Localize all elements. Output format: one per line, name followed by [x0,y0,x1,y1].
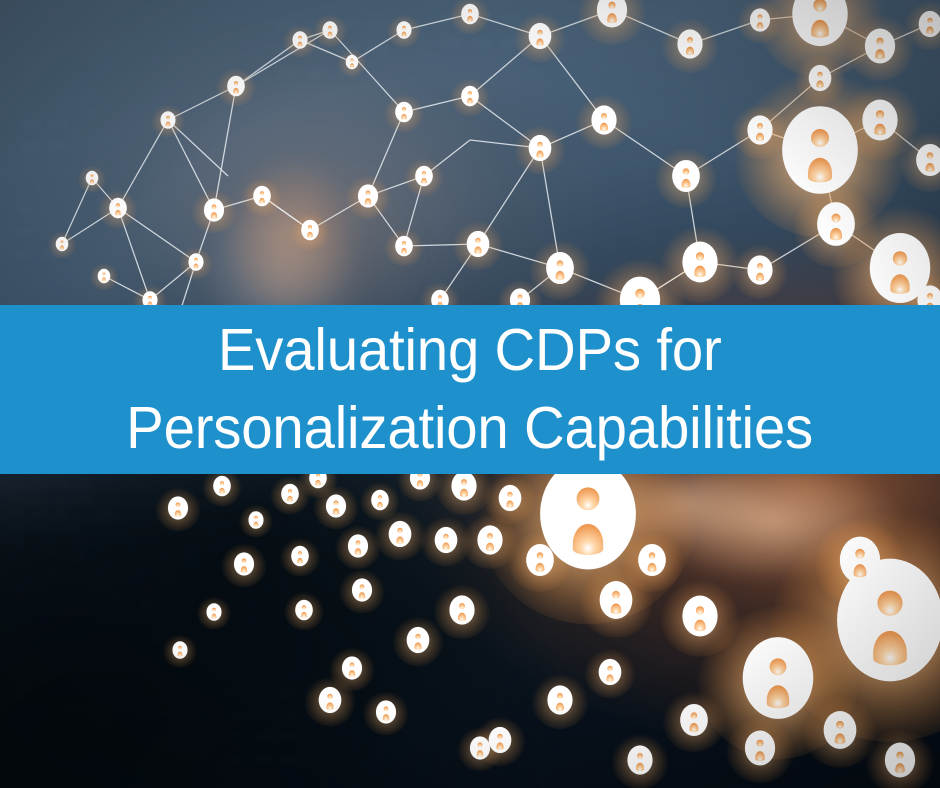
promo-graphic: Evaluating CDPs for Personalization Capa… [0,0,940,788]
title-line-1: Evaluating CDPs for [218,312,722,390]
title-banner: Evaluating CDPs for Personalization Capa… [0,305,940,474]
title-line-2: Personalization Capabilities [127,390,814,468]
